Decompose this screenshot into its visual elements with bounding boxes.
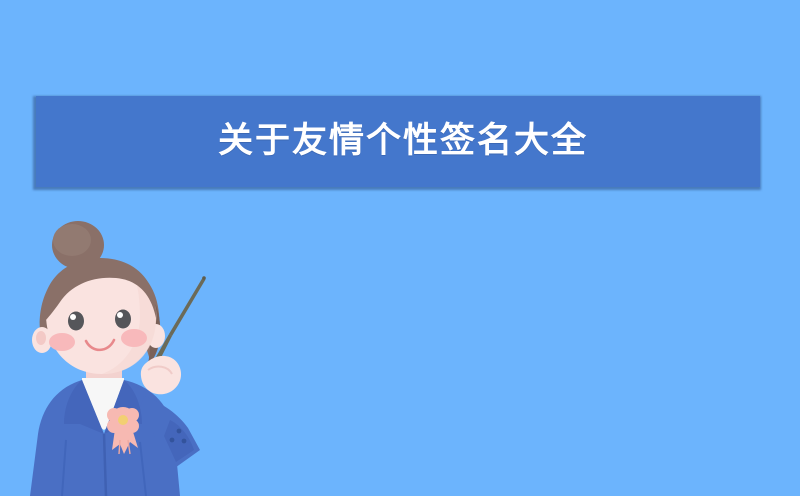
hand <box>141 356 181 394</box>
banner-body: 关于友情个性签名大全 <box>36 96 760 187</box>
teacher-illustration <box>20 218 230 496</box>
left-ear-inner <box>36 331 46 345</box>
right-blush <box>121 329 147 347</box>
title-banner: 关于友情个性签名大全 <box>33 94 763 190</box>
hair-bun-highlight <box>53 224 91 256</box>
slide-canvas: 关于友情个性签名大全 <box>0 0 800 496</box>
pointer-stick-icon <box>152 276 206 366</box>
left-eye <box>68 312 84 331</box>
page-title: 关于友情个性签名大全 <box>218 124 588 159</box>
teacher-illustration-svg <box>20 218 230 496</box>
right-eye <box>115 310 131 329</box>
left-blush <box>49 333 75 351</box>
